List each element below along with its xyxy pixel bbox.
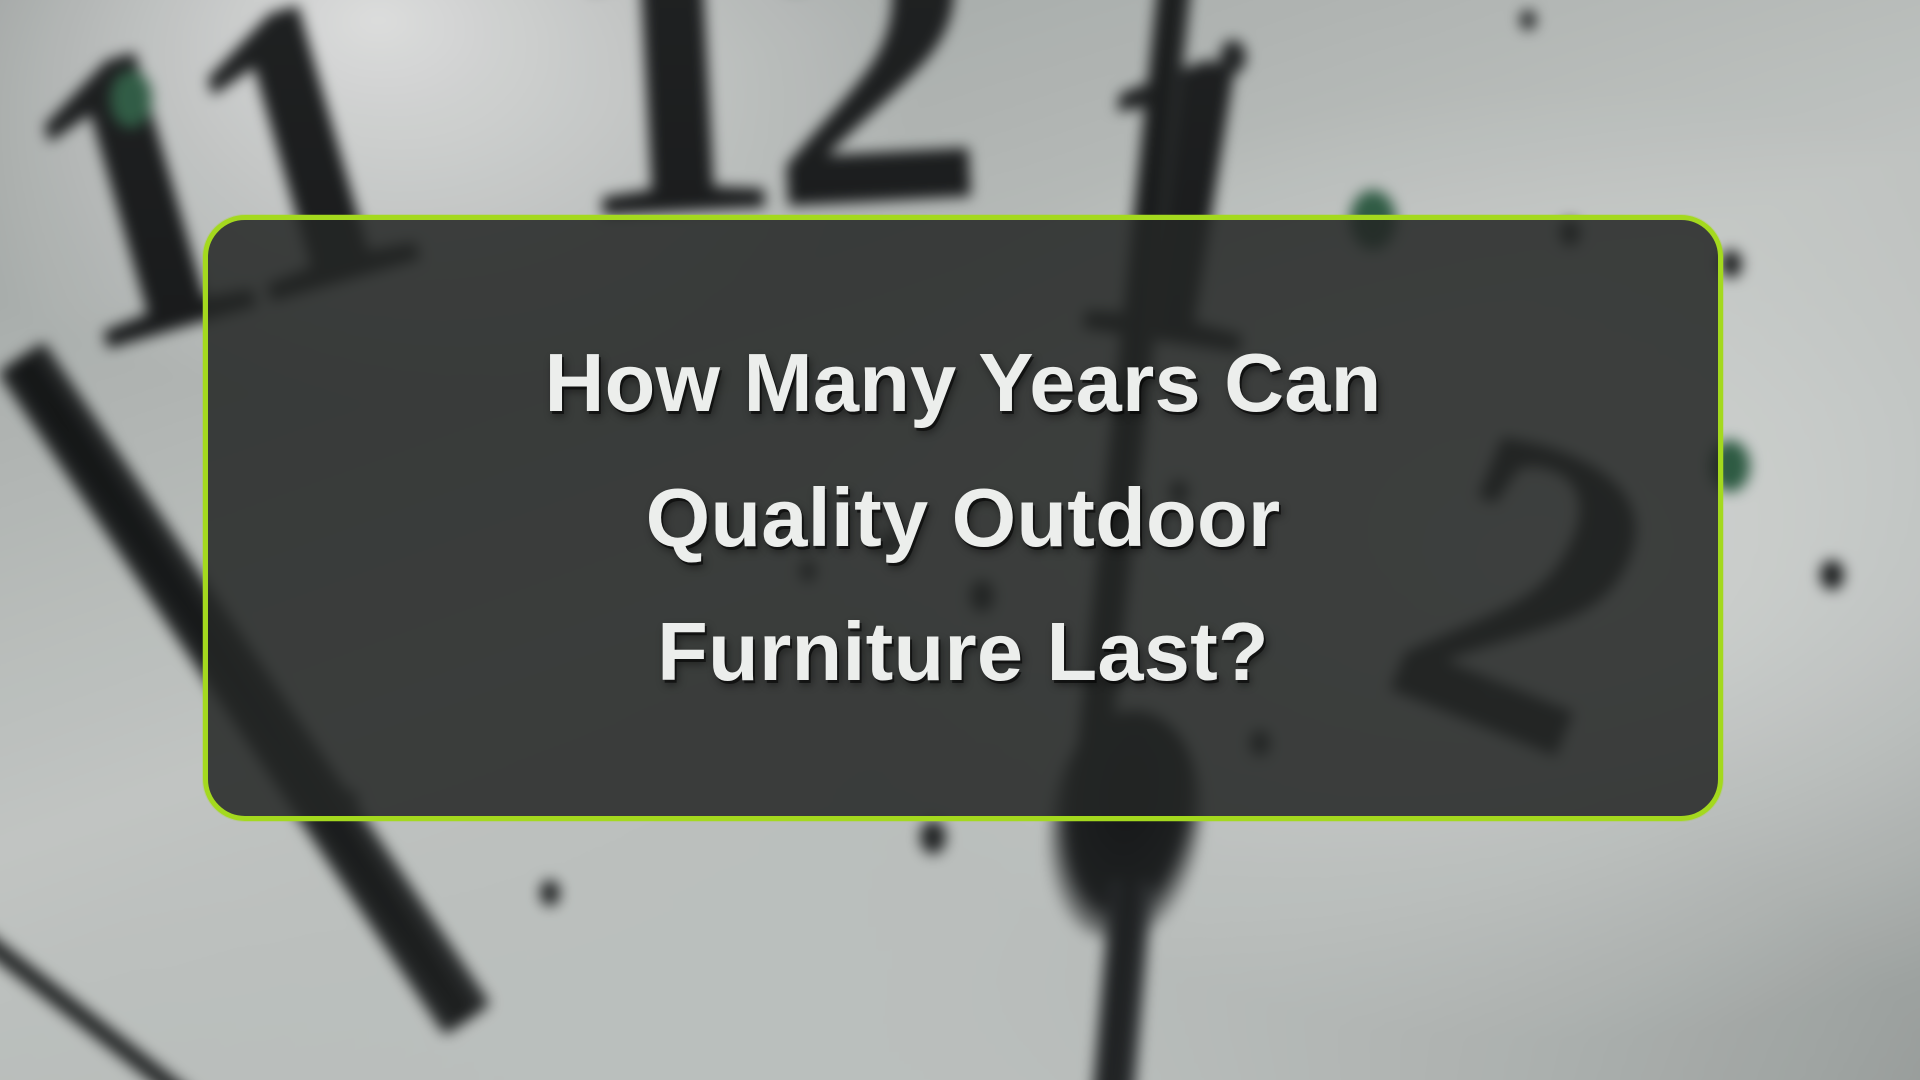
title-line-2: Quality Outdoor <box>248 451 1678 585</box>
title-card-slide: 11 12 1 2 How Many Years Can <box>0 0 1920 1080</box>
title-line-1: How Many Years Can <box>248 316 1678 450</box>
page-title: How Many Years Can Quality Outdoor Furni… <box>208 316 1718 719</box>
title-overlay-panel: How Many Years Can Quality Outdoor Furni… <box>203 215 1723 821</box>
title-line-3: Furniture Last? <box>248 585 1678 719</box>
